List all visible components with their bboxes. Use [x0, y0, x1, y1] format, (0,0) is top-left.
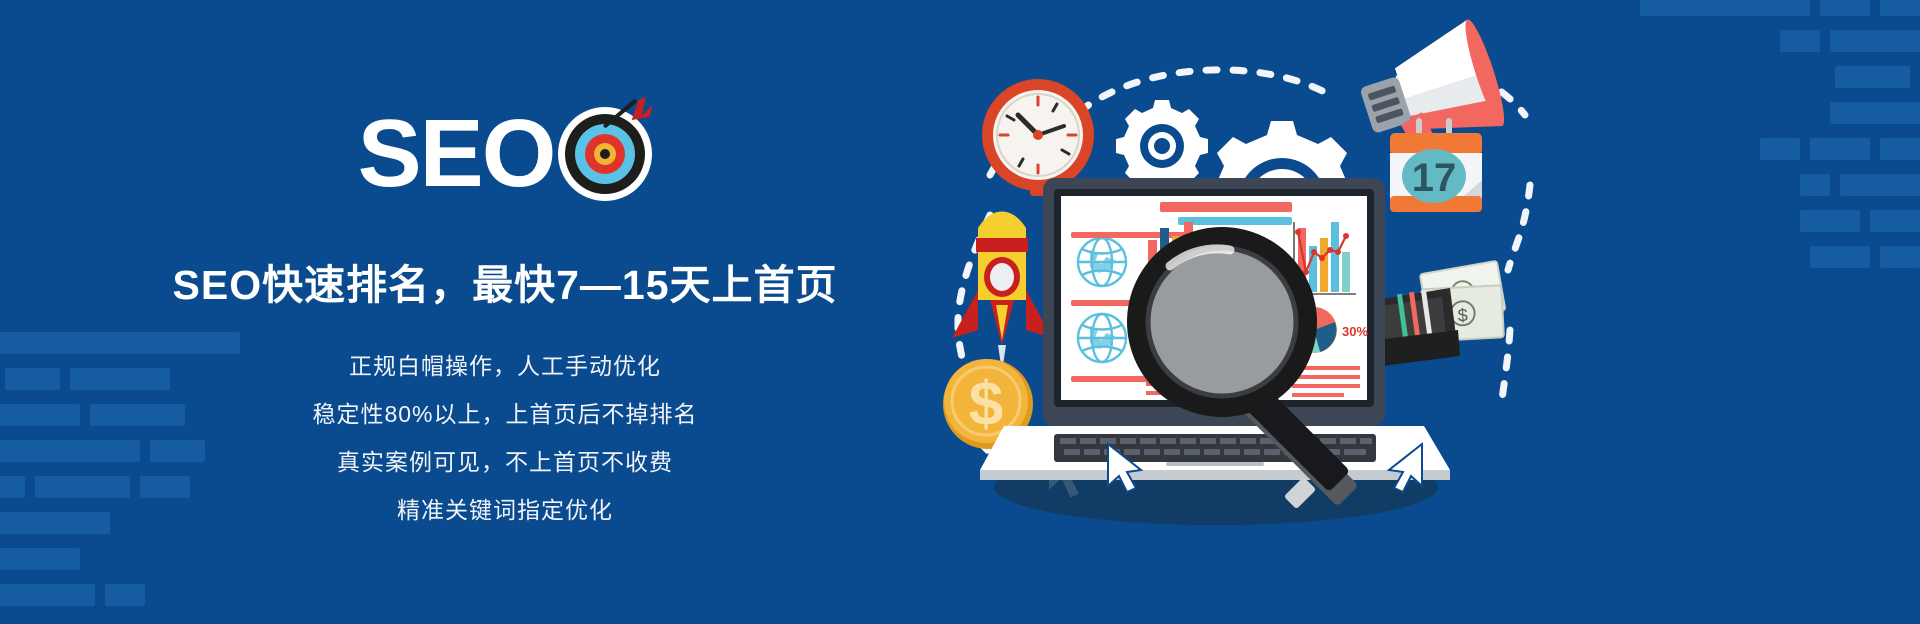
seo-logo: SEO — [358, 99, 653, 209]
target-bullseye-icon — [558, 107, 652, 201]
seo-promo-banner: SEO SEO快速排名，最快7—15天上首页 正规白帽操作，人工手动优化 稳定性… — [0, 0, 1920, 624]
calendar-icon: 17 — [1390, 118, 1482, 212]
svg-text:$: $ — [969, 370, 1003, 439]
list-item: 正规白帽操作，人工手动优化 — [349, 347, 661, 381]
list-item: 精准关键词指定优化 — [397, 491, 613, 525]
page-title: SEO快速排名，最快7—15天上首页 — [173, 251, 838, 311]
pie-percent-label: 30% — [1342, 324, 1368, 339]
banner-text-column: SEO SEO快速排名，最快7—15天上首页 正规白帽操作，人工手动优化 稳定性… — [0, 0, 950, 624]
wallet-money-icon: $ $ — [1376, 261, 1505, 366]
list-item: 真实案例可见，不上首页不收费 — [337, 443, 673, 477]
feature-bullet-list: 正规白帽操作，人工手动优化 稳定性80%以上，上首页后不掉排名 真实案例可见，不… — [312, 347, 697, 525]
seo-illustration: $ — [930, 0, 1920, 624]
list-item: 稳定性80%以上，上首页后不掉排名 — [312, 395, 697, 429]
svg-text:$: $ — [1457, 305, 1468, 325]
rocket-icon — [952, 212, 1052, 373]
calendar-day-label: 17 — [1412, 156, 1457, 200]
logo-text: SEO — [358, 106, 555, 202]
